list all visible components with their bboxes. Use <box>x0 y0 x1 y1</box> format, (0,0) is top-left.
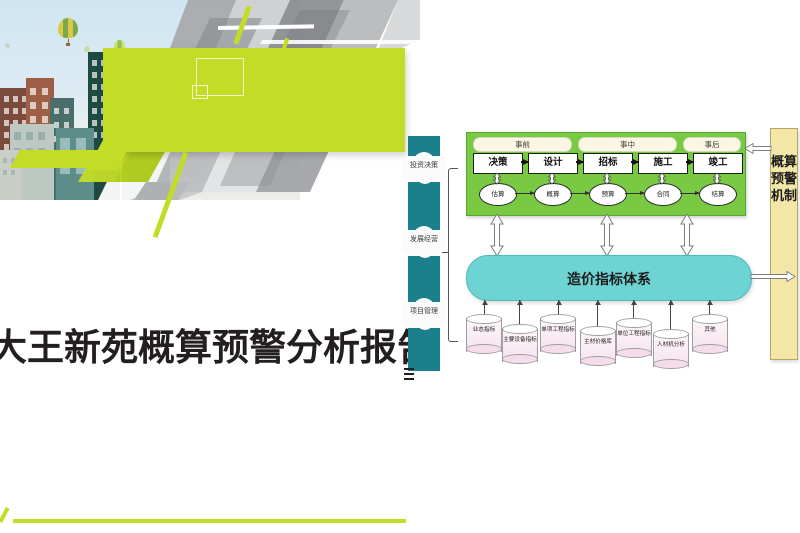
bidirectional-arrow <box>680 213 694 257</box>
database-label: 单位工程指标 <box>616 331 652 338</box>
phase-pill-during: 事中 <box>578 137 677 152</box>
grouping-brace <box>448 168 458 342</box>
db-connector <box>484 300 485 315</box>
database-label: 人材机分析 <box>653 342 689 349</box>
phase-pill-before: 事前 <box>473 137 572 152</box>
decor-lines <box>404 368 414 380</box>
estimate-oval-rough[interactable]: 估算 <box>479 183 517 206</box>
db-connector <box>597 300 598 327</box>
lime-title-panel <box>103 48 405 152</box>
footer-rule-tip <box>0 507 10 523</box>
estimate-flow-arrow <box>625 193 644 194</box>
slide-canvas: 大王新苑概算预警分析报告 投资决策 发展经营 <box>0 0 800 533</box>
sidebar-item-development-operation[interactable]: 发展经营 <box>401 220 447 266</box>
mechanism-arrow-to-panel <box>744 143 772 154</box>
cost-index-system-bar[interactable]: 造价指标体系 <box>466 255 752 301</box>
cloud-label: 发展经营 <box>401 236 447 244</box>
phase-pill-after: 事后 <box>683 137 741 152</box>
cost-index-system-label: 造价指标体系 <box>467 269 751 289</box>
flow-arrow <box>521 161 528 163</box>
estimate-oval-budget-estimate[interactable]: 概算 <box>534 183 572 206</box>
db-connector <box>709 300 710 315</box>
sidebar-item-investment-decision[interactable]: 投资决策 <box>401 146 447 192</box>
db-connector <box>633 300 634 319</box>
cost-index-diagram: 投资决策 发展经营 项目管理 事前 事中 <box>392 118 800 388</box>
lifecycle-panel: 事前 事中 事后 决策 设计 招标 施工 竣工 估算 概算 预算 合同 结算 <box>466 132 746 216</box>
estimate-oval-contract[interactable]: 合同 <box>644 183 682 206</box>
flow-arrow <box>631 161 638 163</box>
cloud-label: 投资决策 <box>401 162 447 170</box>
database-label: 单项工程指标 <box>540 327 576 334</box>
database-label: 业态指标 <box>466 327 502 334</box>
stage-box-construction[interactable]: 施工 <box>638 153 688 174</box>
bidirectional-arrow <box>490 213 504 257</box>
stage-box-design[interactable]: 设计 <box>528 153 578 174</box>
warning-mechanism-label: 概算预警机制 <box>771 153 797 204</box>
db-connector <box>670 300 671 330</box>
footer-rule <box>13 519 406 523</box>
estimate-flow-arrow <box>570 193 589 194</box>
estimate-oval-settlement[interactable]: 结算 <box>699 183 737 206</box>
stage-box-completion[interactable]: 竣工 <box>693 153 743 174</box>
estimate-oval-budget[interactable]: 预算 <box>589 183 627 206</box>
stage-box-decision[interactable]: 决策 <box>473 153 523 174</box>
bidirectional-arrow <box>600 213 614 257</box>
sidebar-item-project-management[interactable]: 项目管理 <box>401 292 447 338</box>
cover-artwork <box>0 0 420 200</box>
estimate-flow-arrow <box>680 193 699 194</box>
flow-arrow <box>686 161 693 163</box>
grouping-brace-nub <box>442 252 449 253</box>
stage-box-bidding[interactable]: 招标 <box>583 153 633 174</box>
page-title: 大王新苑概算预警分析报告 <box>0 325 420 371</box>
database-label: 主材价格库 <box>580 339 616 346</box>
flow-arrow <box>576 161 583 163</box>
cloud-label: 项目管理 <box>401 308 447 316</box>
database-label: 其他 <box>692 327 728 334</box>
warning-mechanism-box[interactable]: 概算预警机制 <box>770 128 798 360</box>
estimate-flow-arrow <box>515 193 534 194</box>
lime-outline-accent <box>192 85 208 99</box>
database-label: 主要设备指标 <box>502 337 538 344</box>
mechanism-arrow-from-system <box>750 271 796 282</box>
db-connector <box>519 300 520 325</box>
db-connector <box>558 300 559 315</box>
